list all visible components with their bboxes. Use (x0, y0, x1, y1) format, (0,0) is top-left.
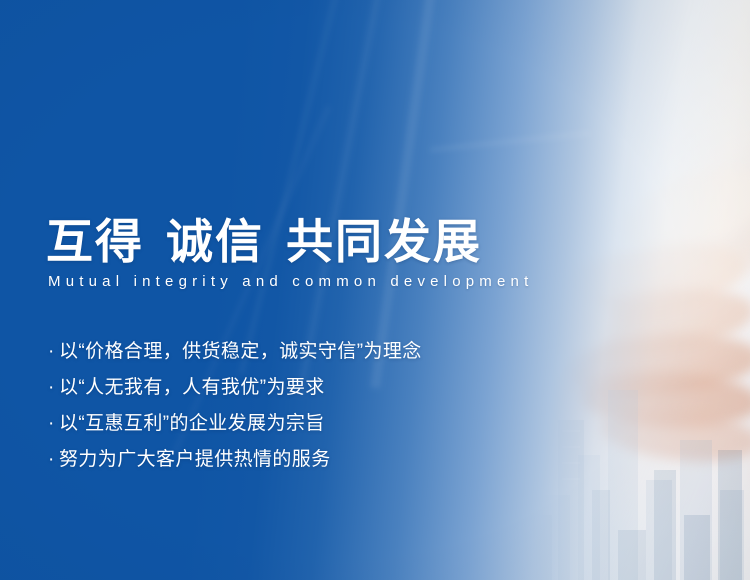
promotional-banner: 互得诚信共同发展 Mutual integrity and common dev… (0, 0, 750, 580)
banner-content: 互得诚信共同发展 Mutual integrity and common dev… (0, 0, 750, 580)
bullet-marker: · (48, 406, 59, 442)
bullet-marker: · (48, 370, 59, 406)
headline-part-1: 互得 (46, 215, 144, 268)
value-points-list: ·以“价格合理，供货稳定，诚实守信”为理念 ·以“人无我有，人有我优”为要求 ·… (48, 334, 422, 478)
list-item: ·以“人无我有，人有我优”为要求 (48, 370, 422, 406)
headline: 互得诚信共同发展 (46, 216, 482, 269)
headline-part-2: 诚信 (166, 215, 264, 268)
list-item-text: 以“人无我有，人有我优”为要求 (59, 377, 325, 398)
list-item-text: 努力为广大客户提供热情的服务 (59, 449, 331, 470)
list-item-text: 以“价格合理，供货稳定，诚实守信”为理念 (59, 341, 422, 362)
list-item-text: 以“互惠互利”的企业发展为宗旨 (59, 413, 325, 434)
bullet-marker: · (48, 334, 59, 370)
headline-part-3: 共同发展 (286, 215, 482, 268)
list-item: ·努力为广大客户提供热情的服务 (48, 442, 422, 478)
bullet-marker: · (48, 442, 59, 478)
subheadline: Mutual integrity and common development (48, 273, 533, 290)
list-item: ·以“价格合理，供货稳定，诚实守信”为理念 (48, 334, 422, 370)
list-item: ·以“互惠互利”的企业发展为宗旨 (48, 406, 422, 442)
